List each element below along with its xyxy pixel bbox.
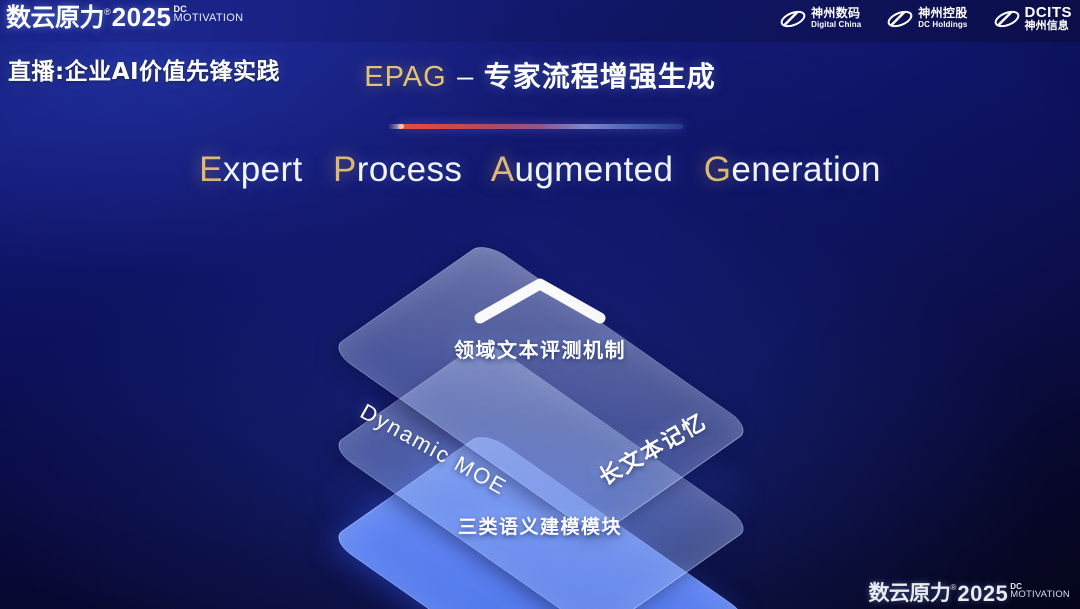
partner-name-cn: 神州控股: [918, 7, 967, 20]
brand-dc-line2: MOTIVATION: [174, 14, 244, 23]
brand-logo: 数云原力 ® 2025 DC MOTIVATION: [6, 4, 243, 34]
watermark-registered-mark: ®: [950, 583, 956, 593]
dc-holdings-swirl-icon: [887, 7, 913, 31]
subtitle-cap-p: P: [333, 150, 357, 189]
digital-china-swirl-icon: [780, 7, 806, 31]
partner-logo-digital-china: 神州数码 Digital China: [780, 7, 861, 31]
live-stream-label: 直播:企业AI价值先锋实践: [8, 52, 280, 86]
watermark-year: 2025: [957, 582, 1008, 605]
watermark-dc-line2: MOTIVATION: [1010, 591, 1070, 599]
subtitle-word-augmented: Augmented: [491, 150, 674, 189]
brand-year: 2025: [112, 4, 172, 31]
subtitle-space-3: [683, 150, 693, 189]
partner-name-cn: 神州数码: [811, 7, 861, 20]
chevron-up-icon: [472, 274, 608, 326]
partner-name-cn: 神州信息: [1025, 20, 1073, 32]
subtitle-word-process: Process: [333, 150, 462, 189]
subtitle-expansion: Expert Process Augmented Generation: [0, 150, 1080, 190]
watermark-dc-motivation: DC MOTIVATION: [1010, 583, 1070, 599]
partner-name-en: DCITS: [1025, 5, 1073, 20]
subtitle-cap-g: G: [704, 150, 732, 189]
subtitle-rest-generation: eneration: [731, 150, 881, 189]
gradient-divider: [398, 124, 683, 129]
headline-dash: –: [457, 61, 473, 93]
partner-logo-group: 神州数码 Digital China 神州控股 DC Holdings DCIT…: [780, 5, 1072, 32]
subtitle-rest-process: rocess: [357, 150, 463, 189]
brand-dc-motivation: DC MOTIVATION: [174, 5, 244, 23]
isometric-layer-stack: 领域文本评测机制 Dynamic MOE 长文本记忆 三类语义建模模块: [290, 222, 790, 572]
dcits-swirl-icon: [994, 7, 1020, 31]
partner-logo-text: 神州数码 Digital China: [811, 7, 861, 30]
subtitle-cap-a: A: [491, 150, 515, 189]
headline-acronym: EPAG: [364, 61, 446, 93]
brand-name-cn: 数云原力: [6, 4, 104, 32]
partner-name-en: DC Holdings: [918, 20, 967, 30]
subtitle-space-1: [313, 150, 323, 189]
subtitle-rest-augmented: ugmented: [514, 150, 673, 189]
subtitle-space-2: [472, 150, 482, 189]
partner-logo-dcits: DCITS 神州信息: [994, 5, 1073, 32]
subtitle-cap-e: E: [199, 150, 223, 189]
partner-logo-text: DCITS 神州信息: [1025, 5, 1073, 32]
partner-name-en: Digital China: [811, 20, 861, 30]
presentation-slide: 数云原力 ® 2025 DC MOTIVATION 直播:企业AI价值先锋实践 …: [0, 0, 1080, 609]
watermark-logo: 数云原力 ® 2025 DC MOTIVATION: [868, 582, 1070, 605]
subtitle-word-generation: Generation: [704, 150, 881, 189]
partner-logo-dc-holdings: 神州控股 DC Holdings: [887, 7, 967, 31]
partner-logo-text: 神州控股 DC Holdings: [918, 7, 967, 30]
brand-registered-mark: ®: [104, 6, 111, 18]
watermark-name-cn: 数云原力: [868, 582, 950, 605]
subtitle-rest-expert: xpert: [223, 150, 303, 189]
headline-chinese: 专家流程增强生成: [484, 60, 716, 93]
subtitle-word-expert: Expert: [199, 150, 303, 189]
